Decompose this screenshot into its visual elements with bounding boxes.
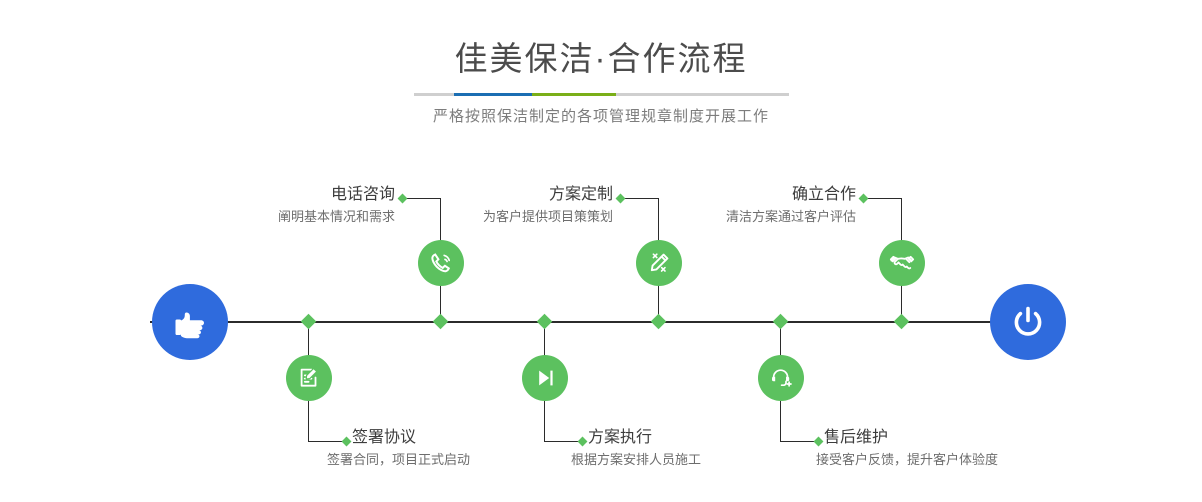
step-4-label-marker: [342, 437, 352, 447]
step-2-icon-node[interactable]: [636, 240, 682, 286]
step-2-label: 方案定制 为客户提供项目策策划: [420, 185, 613, 227]
headset-support-icon: [767, 364, 795, 392]
flow-start-node[interactable]: [152, 284, 228, 360]
step-2-axis-marker: [651, 314, 667, 330]
step-3-icon-node[interactable]: [879, 240, 925, 286]
step-5-desc: 根据方案安排人员施工: [571, 450, 803, 470]
step-6-desc: 接受客户反馈，提升客户体验度: [816, 450, 1084, 470]
step-2-title: 方案定制: [420, 185, 613, 205]
step-3-title: 确立合作: [650, 185, 856, 205]
step-2-desc: 为客户提供项目策策划: [420, 207, 613, 227]
step-1-label: 电话咨询 阐明基本情况和需求: [200, 185, 395, 227]
handshake-icon: [888, 249, 916, 277]
step-3-label-marker: [859, 194, 869, 204]
pointing-hand-icon: [169, 301, 211, 343]
step-3-axis-marker: [894, 314, 910, 330]
flow-end-node[interactable]: [990, 284, 1066, 360]
document-sign-icon: [295, 364, 323, 392]
step-5-axis-marker: [537, 314, 553, 330]
play-next-icon: [531, 364, 559, 392]
step-6-title: 售后维护: [824, 428, 1084, 448]
timeline-axis: [150, 321, 1052, 323]
step-5-label-marker: [578, 437, 588, 447]
step-1-axis-marker: [433, 314, 449, 330]
step-2-label-marker: [616, 194, 626, 204]
step-6-label: 售后维护 接受客户反馈，提升客户体验度: [824, 428, 1084, 470]
step-4-title: 签署协议: [352, 428, 567, 448]
step-3-desc: 清洁方案通过客户评估: [650, 207, 856, 227]
step-5-title: 方案执行: [588, 428, 803, 448]
step-4-icon-node[interactable]: [286, 355, 332, 401]
step-3-label: 确立合作 清洁方案通过客户评估: [650, 185, 856, 227]
step-4-desc: 签署合同，项目正式启动: [327, 450, 567, 470]
step-4-connector-vertical: [308, 401, 309, 441]
process-flow-diagram: 电话咨询 阐明基本情况和需求 方案定制 为客户提供项目策策划: [0, 0, 1202, 502]
step-4-label: 签署协议 签署合同，项目正式启动: [352, 428, 567, 470]
pencil-design-icon: [645, 249, 673, 277]
phone-call-icon: [427, 249, 455, 277]
step-4-axis-marker: [301, 314, 317, 330]
step-5-icon-node[interactable]: [522, 355, 568, 401]
step-6-axis-marker: [773, 314, 789, 330]
power-icon: [1007, 301, 1049, 343]
step-5-label: 方案执行 根据方案安排人员施工: [588, 428, 803, 470]
step-1-label-marker: [398, 194, 408, 204]
step-1-icon-node[interactable]: [418, 240, 464, 286]
step-6-label-marker: [814, 437, 824, 447]
step-6-icon-node[interactable]: [758, 355, 804, 401]
step-1-title: 电话咨询: [200, 185, 395, 205]
step-1-desc: 阐明基本情况和需求: [200, 207, 395, 227]
